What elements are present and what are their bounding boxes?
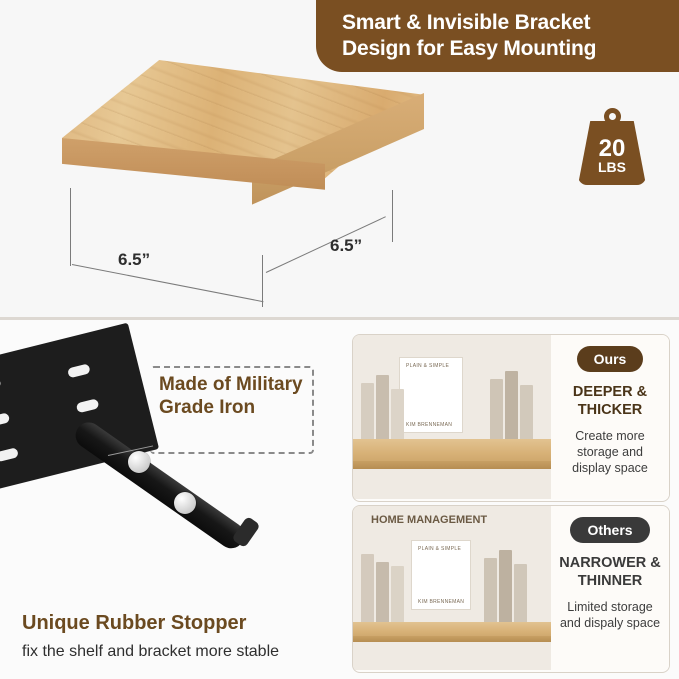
comparison-card-others: HOME MANAGEMENT PLAIN & SIMPLE KIM BRENN… [352, 505, 670, 673]
photo-books [361, 361, 533, 447]
heading-line-1: NARROWER & [559, 554, 661, 572]
shelf-thick [353, 439, 551, 469]
comparison-card-ours: PLAIN & SIMPLE KIM BRENNEMAN Ours DEEPER… [352, 334, 670, 502]
rubber-stopper-upper [128, 451, 150, 473]
dim-tick-right [392, 190, 393, 242]
plate-hole [0, 377, 2, 392]
shelf-edge [353, 461, 551, 469]
rubber-stopper-subtitle: fix the shelf and bracket more stable [22, 643, 279, 661]
book [391, 566, 404, 624]
book [361, 554, 374, 624]
heading-line-2: THICKER [573, 401, 647, 419]
plate-hole [0, 412, 10, 427]
shelf-thin [353, 622, 551, 642]
plate-hole [67, 363, 91, 378]
headline-line-2: Design for Easy Mounting [342, 36, 679, 62]
book [499, 550, 512, 624]
book [490, 379, 503, 447]
photo-books [361, 538, 527, 624]
comparison-body-ours: Create more storage and display space [551, 428, 669, 476]
weight-value: 20 [599, 137, 626, 160]
dim-tick-mid [262, 255, 263, 307]
weight-badge-body: 20 LBS [578, 121, 646, 185]
military-grade-line-1: Made of Military [159, 373, 339, 396]
comparison-body-others: Limited storage and dispaly space [551, 599, 669, 631]
comparison-heading-others: NARROWER & THINNER [559, 554, 661, 590]
badge-ours: Ours [577, 346, 644, 372]
military-grade-title: Made of Military Grade Iron [159, 373, 339, 419]
shelf-edge [353, 636, 551, 642]
headline-line-1: Smart & Invisible Bracket [342, 10, 679, 36]
weight-capacity-badge: 20 LBS [578, 108, 646, 186]
photo-book-title: HOME MANAGEMENT [371, 514, 487, 526]
military-grade-line-2: Grade Iron [159, 396, 339, 419]
rubber-stopper-lower [174, 492, 196, 514]
book [361, 383, 374, 447]
dimension-label-side: 6.5” [330, 236, 362, 256]
dimension-label-front: 6.5” [118, 250, 150, 270]
heading-line-2: THINNER [559, 572, 661, 590]
comparison-photo-ours: PLAIN & SIMPLE KIM BRENNEMAN [353, 335, 551, 499]
book [514, 564, 527, 624]
heading-line-1: DEEPER & [573, 383, 647, 401]
comparison-text-ours: Ours DEEPER & THICKER Create more storag… [551, 335, 669, 499]
shelf-board-illustration [62, 60, 422, 275]
weight-unit: LBS [598, 160, 626, 175]
book [376, 375, 389, 447]
comparison-photo-others: HOME MANAGEMENT PLAIN & SIMPLE KIM BRENN… [353, 506, 551, 670]
badge-others: Others [570, 517, 649, 543]
comparison-heading-ours: DEEPER & THICKER [573, 383, 647, 419]
top-panel: Smart & Invisible Bracket Design for Eas… [0, 0, 679, 317]
book [376, 562, 389, 624]
book [505, 371, 518, 447]
comparison-text-others: Others NARROWER & THINNER Limited storag… [551, 506, 669, 670]
rubber-stopper-title: Unique Rubber Stopper [22, 612, 246, 635]
book [484, 558, 497, 624]
plate-hole [76, 398, 100, 413]
dim-tick-left [70, 188, 71, 266]
plate-hole [0, 447, 19, 462]
product-infographic: Smart & Invisible Bracket Design for Eas… [0, 0, 679, 679]
book [520, 385, 533, 447]
